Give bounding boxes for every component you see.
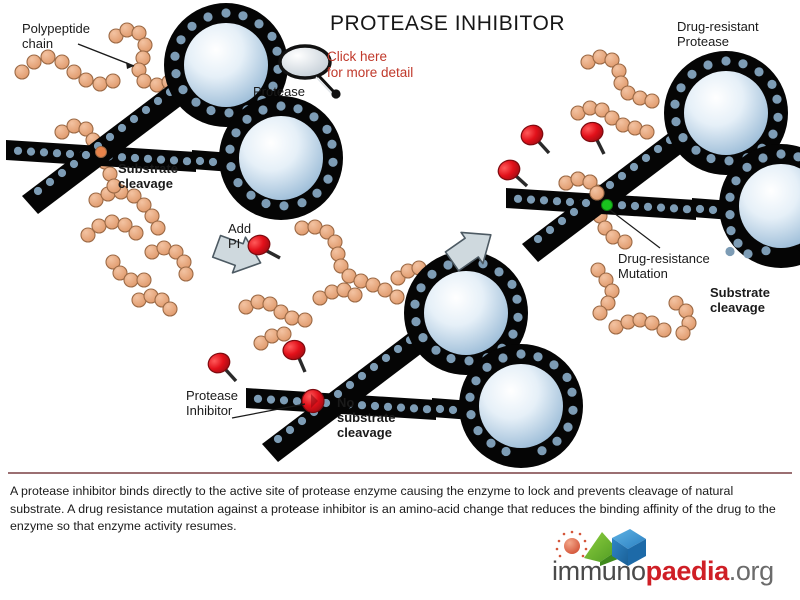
- label-no-substrate-cleavage: No substrate cleavage: [337, 396, 396, 441]
- label-protease: Protease: [253, 85, 305, 100]
- logo-sphere: [556, 531, 588, 558]
- label-protease-inhibitor: Protease Inhibitor: [186, 389, 238, 419]
- protease-ring-lower: [219, 96, 343, 220]
- label-drug-resistance-mutation: Drug-resistance Mutation: [618, 252, 710, 282]
- horizontal-divider: [8, 472, 792, 474]
- logo-text-org: .org: [729, 556, 774, 586]
- bound-inhibitor-active-site: [302, 390, 324, 413]
- label-substrate-cleavage-left: Substrate cleavage: [118, 162, 178, 192]
- label-drug-resistant-protease: Drug-resistant Protease: [677, 20, 759, 50]
- label-polypeptide-chain: Polypeptide chain: [22, 22, 90, 52]
- page-title: PROTEASE INHIBITOR: [330, 12, 565, 36]
- label-substrate-cleavage-right: Substrate cleavage: [710, 286, 770, 316]
- logo-text-paedia: paedia: [646, 556, 729, 586]
- logo-text-immuno: immuno: [552, 556, 646, 586]
- click-here-callout-label[interactable]: Click here for more detail: [327, 49, 413, 82]
- cleavage-site-marker: [96, 147, 107, 158]
- diagram-page: PROTEASE INHIBITOR Click here for more d…: [0, 0, 800, 600]
- inhibited-ring-lower: [459, 344, 583, 468]
- logo-wordmark: immunopaedia.org: [552, 556, 774, 587]
- immunopaedia-logo[interactable]: immunopaedia.org: [552, 528, 782, 590]
- mutation-marker: [602, 200, 613, 211]
- label-add-pi: Add PI: [228, 222, 251, 252]
